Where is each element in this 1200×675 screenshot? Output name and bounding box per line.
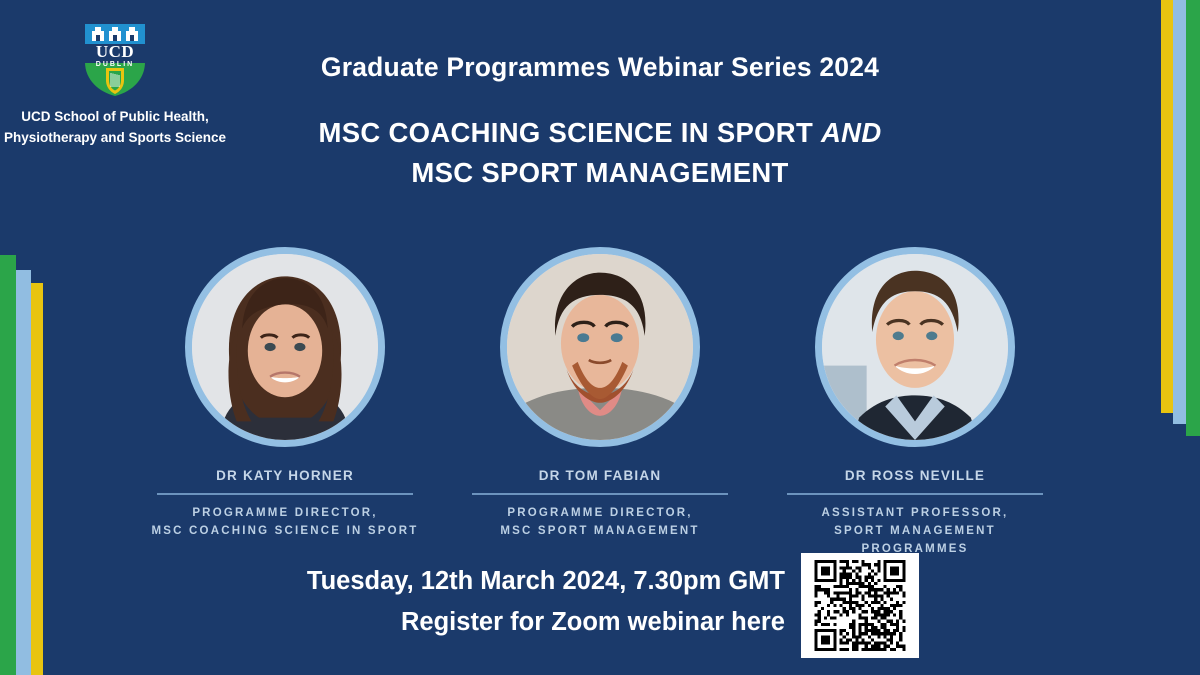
speaker-divider [157, 493, 413, 495]
speaker-role: ASSISTANT PROFESSOR, SPORT MANAGEMENT PR… [780, 505, 1050, 558]
decor-bar-right-blue [1173, 0, 1186, 424]
speaker-card: DR KATY HORNER PROGRAMME DIRECTOR, MSC C… [150, 247, 420, 558]
decor-bar-left-green [0, 255, 16, 675]
decor-bar-left-yellow [31, 283, 43, 675]
series-title: Graduate Programmes Webinar Series 2024 [230, 52, 970, 83]
programme-title-and: AND [821, 117, 881, 148]
speaker-divider [472, 493, 728, 495]
qr-code[interactable] [801, 553, 919, 658]
avatar [500, 247, 700, 447]
speaker-divider [787, 493, 1043, 495]
avatar [185, 247, 385, 447]
speaker-card: DR TOM FABIAN PROGRAMME DIRECTOR, MSC SP… [465, 247, 735, 558]
speaker-name: DR ROSS NEVILLE [845, 468, 985, 483]
avatar [815, 247, 1015, 447]
speaker-role: PROGRAMME DIRECTOR, MSC SPORT MANAGEMENT [500, 505, 699, 541]
webinar-poster: UCD DUBLIN UCD School of Public Health, … [0, 0, 1200, 675]
programme-title: MSC COACHING SCIENCE IN SPORT AND MSC SP… [190, 113, 1010, 193]
register-cta[interactable]: Register for Zoom webinar here [200, 602, 785, 643]
speaker-role: PROGRAMME DIRECTOR, MSC COACHING SCIENCE… [152, 505, 419, 541]
programme-title-line1: MSC COACHING SCIENCE IN SPORT [319, 117, 822, 148]
programme-title-line2: MSC SPORT MANAGEMENT [411, 157, 788, 188]
svg-text:DUBLIN: DUBLIN [96, 61, 134, 68]
ucd-crest-icon: UCD DUBLIN [83, 22, 147, 98]
webinar-date: Tuesday, 12th March 2024, 7.30pm GMT [200, 561, 785, 602]
footer-text: Tuesday, 12th March 2024, 7.30pm GMT Reg… [200, 561, 785, 644]
speaker-card: DR ROSS NEVILLE ASSISTANT PROFESSOR, SPO… [780, 247, 1050, 558]
decor-bar-left-blue [16, 270, 31, 675]
school-name-line1: UCD School of Public Health, [21, 109, 209, 124]
svg-text:UCD: UCD [96, 42, 134, 61]
speaker-name: DR KATY HORNER [216, 468, 354, 483]
speaker-list: DR KATY HORNER PROGRAMME DIRECTOR, MSC C… [150, 247, 1050, 558]
speaker-name: DR TOM FABIAN [539, 468, 662, 483]
decor-bar-right-yellow [1161, 0, 1173, 413]
decor-bar-right-green [1186, 0, 1200, 436]
